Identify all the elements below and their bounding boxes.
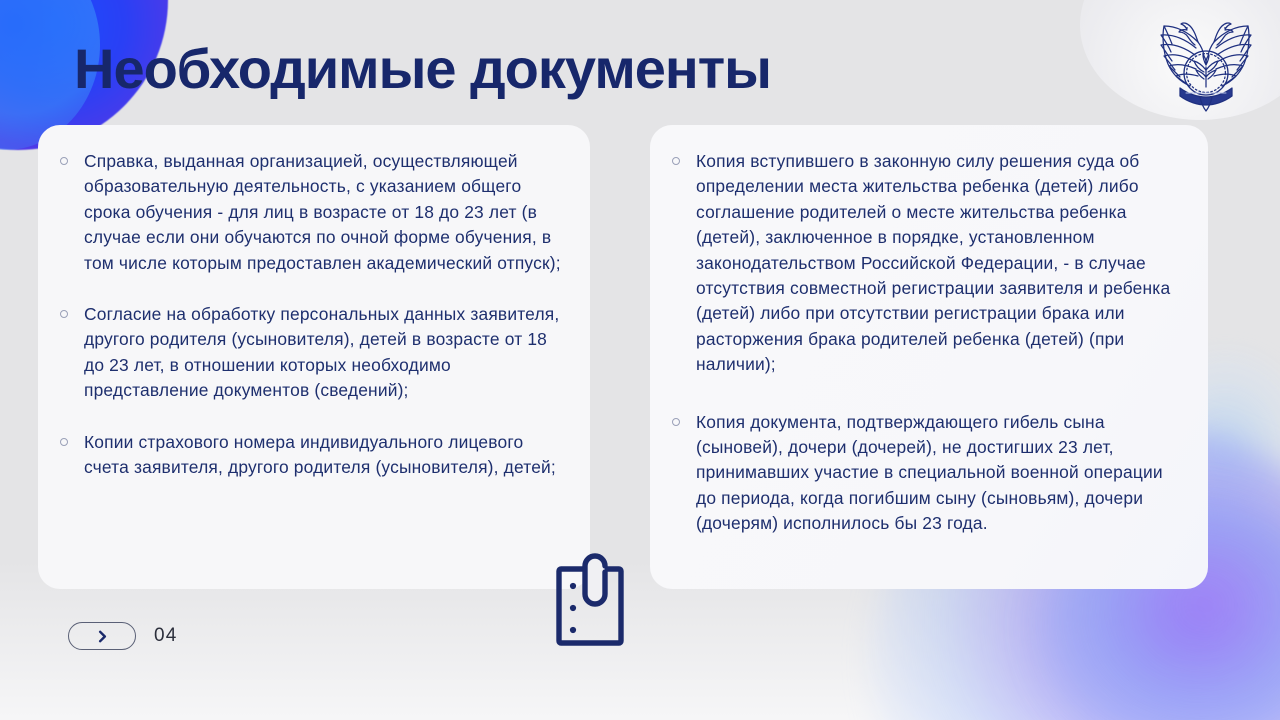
documents-card-right: Копия вступившего в законную силу решени…: [650, 125, 1208, 589]
bullet-circle-icon: [672, 157, 680, 165]
double-headed-eagle-emblem: [1154, 12, 1258, 112]
list-item: Копии страхового номера индивидуального …: [56, 430, 564, 481]
list-item: Справка, выданная организацией, осуществ…: [56, 149, 564, 276]
bullet-circle-icon: [60, 310, 68, 318]
list-item-text: Согласие на обработку персональных данны…: [84, 304, 559, 400]
list-item: Копия документа, подтверждающего гибель …: [668, 410, 1182, 537]
document-list-right: Копия вступившего в законную силу решени…: [668, 149, 1182, 537]
chevron-right-icon: [95, 629, 110, 644]
list-item-text: Справка, выданная организацией, осуществ…: [84, 151, 561, 273]
document-list-left: Справка, выданная организацией, осуществ…: [56, 149, 564, 480]
slide: Необходимые документы: [0, 0, 1280, 720]
list-item: Копия вступившего в законную силу решени…: [668, 149, 1182, 378]
page-title: Необходимые документы: [74, 36, 771, 101]
list-item-text: Копия документа, подтверждающего гибель …: [696, 412, 1163, 534]
list-item: Согласие на обработку персональных данны…: [56, 302, 564, 404]
clipboard-paperclip-icon: [548, 548, 640, 648]
list-item-text: Копия вступившего в законную силу решени…: [696, 151, 1170, 374]
page-number: 04: [154, 625, 177, 647]
pager: 04: [68, 622, 177, 650]
bullet-circle-icon: [60, 157, 68, 165]
bullet-circle-icon: [672, 418, 680, 426]
next-slide-button[interactable]: [68, 622, 136, 650]
list-item-text: Копии страхового номера индивидуального …: [84, 432, 556, 477]
bullet-circle-icon: [60, 438, 68, 446]
documents-card-left: Справка, выданная организацией, осуществ…: [38, 125, 590, 589]
